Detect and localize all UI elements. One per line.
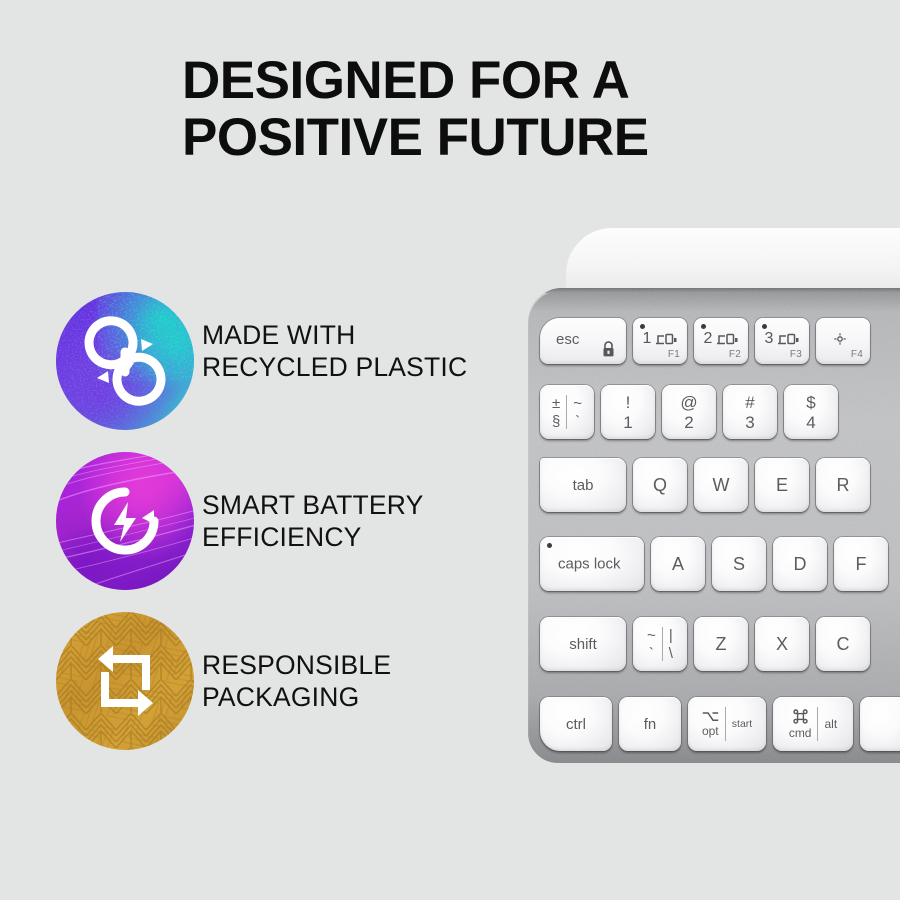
key-w[interactable]: W [694, 458, 748, 512]
key-4-base: 4 [806, 414, 815, 431]
key-f-label: F [856, 555, 867, 573]
device-switch-icon [655, 332, 677, 347]
key-q[interactable]: Q [633, 458, 687, 512]
feature-list: MADE WITH RECYCLED PLASTIC [56, 292, 516, 772]
option-icon [702, 711, 719, 722]
key-tilde2-bottom: ` [649, 646, 654, 661]
key-shift[interactable]: shift [540, 617, 626, 671]
recycle-loop-icon [56, 292, 194, 430]
key-ctrl[interactable]: ctrl [540, 697, 612, 751]
f2-led-indicator [701, 324, 706, 329]
keyboard-modifier-row: ctrl fn opt [540, 697, 900, 751]
feature-item-smart-battery: SMART BATTERY EFFICIENCY [56, 452, 516, 612]
keyboard-shift-row: shift ~ ` | \ [540, 617, 870, 671]
key-1-base: 1 [623, 414, 632, 431]
key-2[interactable]: @ 2 [662, 385, 716, 439]
key-caps-lock[interactable]: caps lock [540, 537, 644, 591]
page-title: DESIGNED FOR A POSITIVE FUTURE [182, 52, 822, 166]
key-e-label: E [776, 476, 788, 494]
key-pipe-top: | [669, 628, 673, 643]
key-r[interactable]: R [816, 458, 870, 512]
key-cmd-label: cmd [789, 727, 812, 739]
poster-canvas: DESIGNED FOR A POSITIVE FUTURE [0, 0, 900, 900]
brightness-icon [832, 332, 854, 347]
key-4-shift: $ [806, 394, 815, 411]
key-tilde-bottom: ` [575, 414, 580, 429]
key-tilde2-top: ~ [647, 628, 656, 643]
key-f[interactable]: F [834, 537, 888, 591]
key-backslash-bottom: \ [669, 646, 673, 661]
key-tilde-pipe[interactable]: ~ ` | \ [633, 617, 687, 671]
key-1-shift: ! [626, 394, 631, 411]
key-d[interactable]: D [773, 537, 827, 591]
feature-item-responsible-packaging: RESPONSIBLE PACKAGING [56, 612, 516, 772]
f1-led-indicator [640, 324, 645, 329]
key-f3-tag: F3 [790, 349, 802, 360]
key-f3-number: 3 [765, 330, 774, 348]
key-fn[interactable]: fn [619, 697, 681, 751]
key-x-label: X [776, 635, 788, 653]
keyboard-function-row: esc 1 [540, 318, 870, 364]
key-c-label: C [837, 635, 850, 653]
key-3-base: 3 [745, 414, 754, 431]
key-f2[interactable]: 2 F2 [694, 318, 748, 364]
key-s[interactable]: S [712, 537, 766, 591]
keyboard-number-row: ± § ~ ` ! 1 [540, 385, 838, 439]
f3-led-indicator [762, 324, 767, 329]
key-c[interactable]: C [816, 617, 870, 671]
keyboard-product-image: esc 1 [528, 228, 900, 763]
keyboard-qwerty-row: tab Q W E R [540, 458, 870, 512]
key-3-shift: # [745, 394, 754, 411]
key-tab[interactable]: tab [540, 458, 626, 512]
key-w-label: W [713, 476, 730, 494]
key-esc-label: esc [556, 331, 579, 348]
feature-label-recycled-plastic: MADE WITH RECYCLED PLASTIC [202, 320, 512, 384]
key-f3[interactable]: 3 F3 [755, 318, 809, 364]
key-f1[interactable]: 1 F1 [633, 318, 687, 364]
device-switch-icon [716, 332, 738, 347]
key-caps-lock-label: caps lock [558, 556, 621, 573]
key-q-label: Q [653, 476, 667, 494]
key-1[interactable]: ! 1 [601, 385, 655, 439]
battery-bolt-refresh-icon [56, 452, 194, 590]
key-f4-tag: F4 [851, 349, 863, 360]
feature-label-responsible-packaging: RESPONSIBLE PACKAGING [202, 650, 512, 714]
key-alt-label: alt [824, 718, 837, 730]
key-f1-tag: F1 [668, 349, 680, 360]
key-ctrl-label: ctrl [566, 717, 586, 732]
key-4[interactable]: $ 4 [784, 385, 838, 439]
key-fn-label: fn [644, 717, 657, 732]
key-esc[interactable]: esc [540, 318, 626, 364]
caps-lock-led-indicator [547, 543, 552, 548]
key-f2-number: 2 [704, 330, 713, 348]
key-z[interactable]: Z [694, 617, 748, 671]
key-opt-label: opt [702, 725, 719, 737]
key-section-top: ± [552, 396, 560, 411]
badge-recycled-plastic [56, 292, 194, 430]
lock-icon [601, 341, 616, 358]
key-a-label: A [672, 555, 684, 573]
keyboard-rows: esc 1 [528, 288, 900, 763]
key-spacebar[interactable] [860, 697, 900, 751]
key-2-shift: @ [680, 394, 697, 411]
key-opt-start[interactable]: opt start [688, 697, 766, 751]
repeat-square-icon [56, 612, 194, 750]
key-start-label: start [732, 719, 752, 730]
key-tab-label: tab [573, 478, 594, 493]
key-d-label: D [794, 555, 807, 573]
key-cmd-alt[interactable]: cmd alt [773, 697, 853, 751]
badge-smart-battery [56, 452, 194, 590]
key-e[interactable]: E [755, 458, 809, 512]
feature-label-smart-battery: SMART BATTERY EFFICIENCY [202, 490, 512, 554]
key-f1-number: 1 [643, 330, 652, 348]
key-z-label: Z [716, 635, 727, 653]
feature-item-recycled-plastic: MADE WITH RECYCLED PLASTIC [56, 292, 516, 452]
key-2-base: 2 [684, 414, 693, 431]
key-f2-tag: F2 [729, 349, 741, 360]
key-section-tilde[interactable]: ± § ~ ` [540, 385, 594, 439]
key-x[interactable]: X [755, 617, 809, 671]
key-f4[interactable]: F4 [816, 318, 870, 364]
badge-responsible-packaging [56, 612, 194, 750]
key-r-label: R [837, 476, 850, 494]
keyboard-home-row: caps lock A S D F [540, 537, 888, 591]
key-s-label: S [733, 555, 745, 573]
key-3[interactable]: # 3 [723, 385, 777, 439]
device-switch-icon [777, 332, 799, 347]
key-section-bottom: § [552, 414, 560, 429]
command-icon [793, 709, 808, 724]
key-a[interactable]: A [651, 537, 705, 591]
key-shift-label: shift [569, 637, 597, 652]
key-tilde-top: ~ [573, 396, 582, 411]
